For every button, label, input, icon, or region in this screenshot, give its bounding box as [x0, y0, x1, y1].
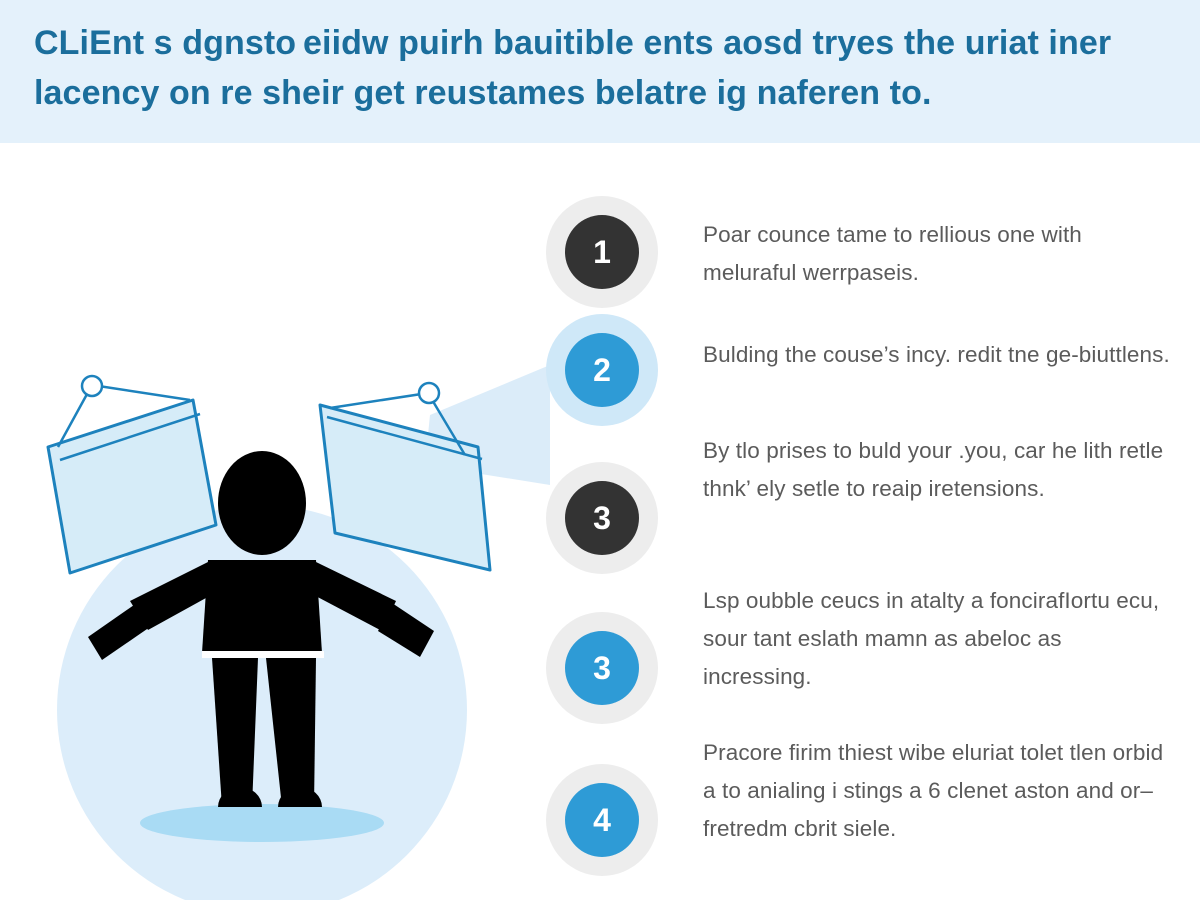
- badge-number: 2: [565, 333, 639, 407]
- steps-list: 1 Poar counce tame to rellious one with …: [543, 196, 1193, 878]
- badge-outer-ring: 3: [546, 462, 658, 574]
- step-badge-1: 1: [543, 196, 661, 308]
- step-item: 4 Pracore firim thiest wibe eluriat tole…: [543, 734, 1193, 876]
- step-text: Bulding the couse’s incy. redit tne ge-b…: [661, 314, 1173, 374]
- ground-shadow: [140, 804, 384, 842]
- step-item: 2 Bulding the couse’s incy. redit tne ge…: [543, 314, 1193, 426]
- infographic-page: CLiEnt s dgnsto eiidw puirh bauitible en…: [0, 0, 1200, 900]
- step-badge-4: 3: [543, 582, 661, 724]
- step-text: Lsp oubble ceucs in atalty a foncirafIor…: [661, 582, 1173, 696]
- illustration-person-holding-signboards: [30, 355, 550, 900]
- badge-number: 3: [565, 481, 639, 555]
- header-band: CLiEnt s dgnsto eiidw puirh bauitible en…: [0, 0, 1200, 143]
- badge-number: 1: [565, 215, 639, 289]
- step-text: By tlo prises to buld your .you, car he …: [661, 432, 1173, 508]
- step-badge-5: 4: [543, 734, 661, 876]
- badge-outer-ring: 1: [546, 196, 658, 308]
- step-badge-2: 2: [543, 314, 661, 426]
- step-item: 3 Lsp oubble ceucs in atalty a foncirafI…: [543, 582, 1193, 724]
- page-title: CLiEnt s dgnsto eiidw puirh bauitible en…: [34, 18, 1166, 118]
- badge-outer-ring: 2: [546, 314, 658, 426]
- step-text: Poar counce tame to rellious one with me…: [661, 196, 1173, 292]
- illustration-svg: [30, 355, 550, 900]
- badge-outer-ring: 4: [546, 764, 658, 876]
- badge-number: 4: [565, 783, 639, 857]
- step-item: 1 Poar counce tame to rellious one with …: [543, 196, 1193, 308]
- badge-number: 3: [565, 631, 639, 705]
- step-text: Pracore firim thiest wibe eluriat tolet …: [661, 734, 1173, 848]
- step-badge-3: 3: [543, 432, 661, 574]
- step-item: 3 By tlo prises to buld your .you, car h…: [543, 432, 1193, 574]
- badge-outer-ring: 3: [546, 612, 658, 724]
